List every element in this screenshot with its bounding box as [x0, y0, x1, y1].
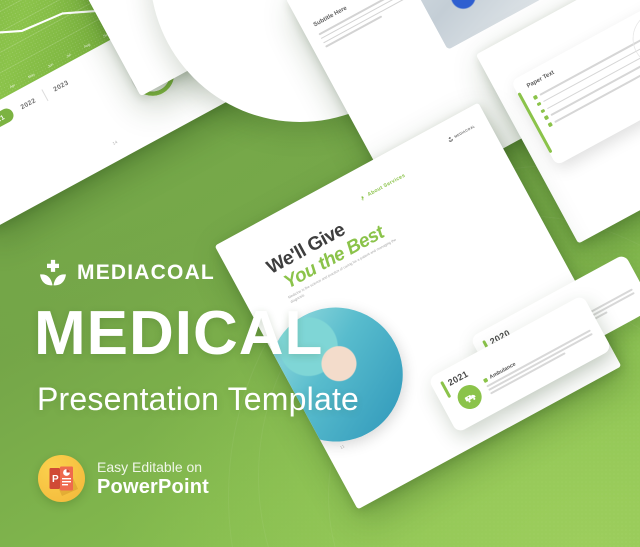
promo-banner: Way Payment Donated Total 2040 Jan Feb M… — [0, 0, 640, 547]
check-icon — [533, 95, 538, 100]
stat-card[interactable]: Paper Text 50 Treatment — [511, 1, 640, 166]
tag-label: About Services — [367, 173, 407, 198]
page-title: MEDICAL — [34, 303, 323, 365]
leaf-icon — [359, 194, 367, 202]
stat-bullet-list — [533, 27, 640, 131]
check-icon — [544, 115, 549, 120]
year-option-2021[interactable]: 2021 — [0, 106, 16, 135]
year-option-2022[interactable]: 2022 — [19, 97, 37, 111]
slide-page-number: 11 — [339, 443, 346, 450]
year-divider — [41, 89, 48, 101]
powerpoint-badge[interactable]: P Easy Editable on PowerPoint — [38, 455, 209, 502]
page-subtitle: Presentation Template — [37, 383, 359, 415]
powerpoint-line-1: Easy Editable on — [97, 459, 209, 476]
powerpoint-text-block: Easy Editable on PowerPoint — [97, 459, 209, 498]
ambulance-icon — [453, 381, 486, 414]
brand-name: MEDIACOAL — [77, 261, 215, 285]
powerpoint-icon: P — [38, 455, 85, 502]
slide-brand-mark: MEDIACOAL — [446, 123, 476, 143]
bullet-icon — [483, 378, 488, 383]
slide-page-number: 14 — [112, 139, 119, 146]
brand-name: MEDIACOAL — [454, 124, 476, 139]
text-line — [323, 0, 405, 43]
leaf-cross-icon — [446, 135, 454, 143]
powerpoint-line-2: PowerPoint — [97, 476, 209, 498]
check-icon — [536, 102, 541, 107]
check-icon — [540, 109, 545, 114]
year-option-2023[interactable]: 2023 — [52, 79, 70, 93]
leaf-cross-icon — [38, 258, 68, 288]
brand-logo: MEDIACOAL — [38, 258, 215, 288]
paragraph-lines — [318, 0, 408, 50]
svg-text:P: P — [52, 474, 59, 485]
about-services-tag: About Services — [359, 173, 407, 203]
check-icon — [548, 122, 553, 127]
